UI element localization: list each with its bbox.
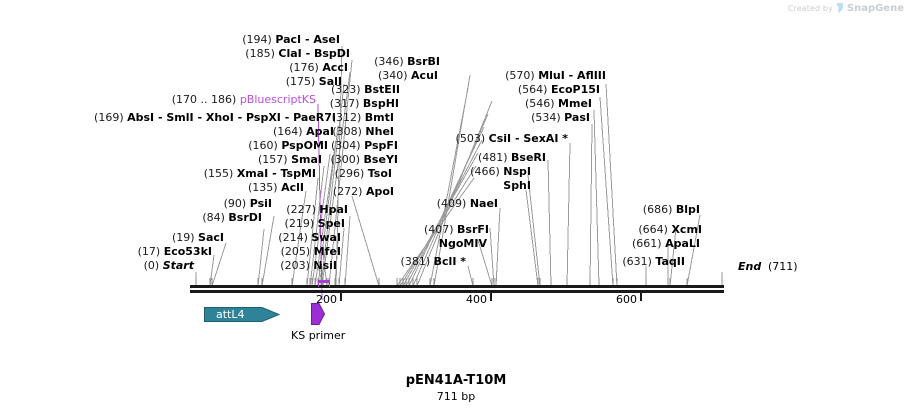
site-label-407[interactable]: (407) BsrFI [424,224,489,236]
snapgene-watermark: Created by SnapGene [788,3,904,14]
site-label-194[interactable]: (194) PacI - AseI [242,34,340,46]
site-label-317[interactable]: (317) BspHI [330,98,399,110]
site-label-205[interactable]: (205) MfeI [281,246,341,258]
site-label-155[interactable]: (155) XmaI - TspMI [204,168,316,180]
site-label-203[interactable]: (203) NsiI [280,260,337,272]
scale-label-400: 400 [466,294,487,306]
site-label-664[interactable]: (664) XcmI [638,224,702,236]
site-label-214[interactable]: (214) SwaI [278,232,341,244]
feature-label-pbluescriptks[interactable]: (170 .. 186) pBluescriptKS [172,94,316,106]
site-label-466b[interactable]: SphI [503,180,531,192]
primer-ks[interactable] [310,302,326,330]
site-label-176[interactable]: (176) AccI [289,62,348,74]
scale-tick-400 [490,293,492,301]
site-label-546[interactable]: (546) MmeI [525,98,592,110]
site-label-90[interactable]: (90) PsiI [224,198,272,210]
site-label-631[interactable]: (631) TaqII [622,256,685,268]
primer-ks-label: KS primer [291,329,345,342]
site-label-308[interactable]: (308) NheI [332,126,394,138]
site-label-564[interactable]: (564) EcoP15I [518,84,600,96]
watermark-brand: SnapGene [847,3,904,14]
site-label-466[interactable]: (466) NspI [470,166,531,178]
site-label-686[interactable]: (686) BlpI [643,204,700,216]
site-label-381[interactable]: (381) BclI * [401,256,466,268]
feature-bar-pbluescriptks-right-cap [329,280,330,287]
sequence-backbone-top [190,285,724,288]
site-label-164[interactable]: (164) ApaI [273,126,334,138]
site-label-160[interactable]: (160) PspOMI [248,140,328,152]
site-label-17[interactable]: (17) Eco53kI [138,246,212,258]
scale-tick-200 [340,293,342,301]
site-label-19[interactable]: (19) SacI [172,232,224,244]
site-label-272[interactable]: (272) ApoI [333,186,394,198]
site-label-304[interactable]: (304) PspFI [331,140,398,152]
site-label-157[interactable]: (157) SmaI [258,154,322,166]
site-label-407b[interactable]: NgoMIV [439,238,487,250]
plasmid-title: pEN41A-T10M [0,373,912,388]
watermark-prefix: Created by [788,3,833,14]
scale-label-600: 600 [616,294,637,306]
site-label-534[interactable]: (534) PasI [531,112,590,124]
feature-attl4-label: attL4 [216,308,245,321]
site-label-481[interactable]: (481) BseRI [478,152,546,164]
site-label-409[interactable]: (409) NaeI [437,198,498,210]
site-label-661[interactable]: (661) ApaLI [632,238,700,250]
site-label-340[interactable]: (340) AcuI [378,70,438,82]
sequence-map-canvas: Created by SnapGene [0,0,912,412]
plasmid-length: 711 bp [0,390,912,403]
site-label-185[interactable]: (185) ClaI - BspDI [245,48,350,60]
site-label-503[interactable]: (503) CsiI - SexAI * [456,133,568,145]
site-label-169[interactable]: (169) AbsI - SmlI - XhoI - PspXI - PaeR7… [94,112,336,124]
snapgene-logo-icon [836,3,844,14]
site-label-570[interactable]: (570) MluI - AflIII [505,70,606,82]
site-label-296[interactable]: (296) TsoI [335,168,392,180]
feature-attl4[interactable]: attL4 [204,305,280,328]
end-position: (711) [768,260,798,273]
site-label-219[interactable]: (219) SpeI [285,218,345,230]
sequence-backbone-bottom [190,290,724,293]
site-label-346[interactable]: (346) BsrBI [374,56,440,68]
scale-tick-600 [640,293,642,301]
site-label-300[interactable]: (300) BseYI [330,154,398,166]
end-label: End [738,260,761,273]
site-label-312[interactable]: (312) BmtI [332,112,394,124]
site-label-135[interactable]: (135) AclI [248,182,304,194]
site-label-84[interactable]: (84) BsrDI [202,212,262,224]
site-label-323[interactable]: (323) BstEII [331,84,400,96]
site-label-227[interactable]: (227) HpaI [286,204,348,216]
feature-bar-pbluescriptks-left-cap [318,280,319,287]
start-label[interactable]: (0) Start [144,260,194,272]
